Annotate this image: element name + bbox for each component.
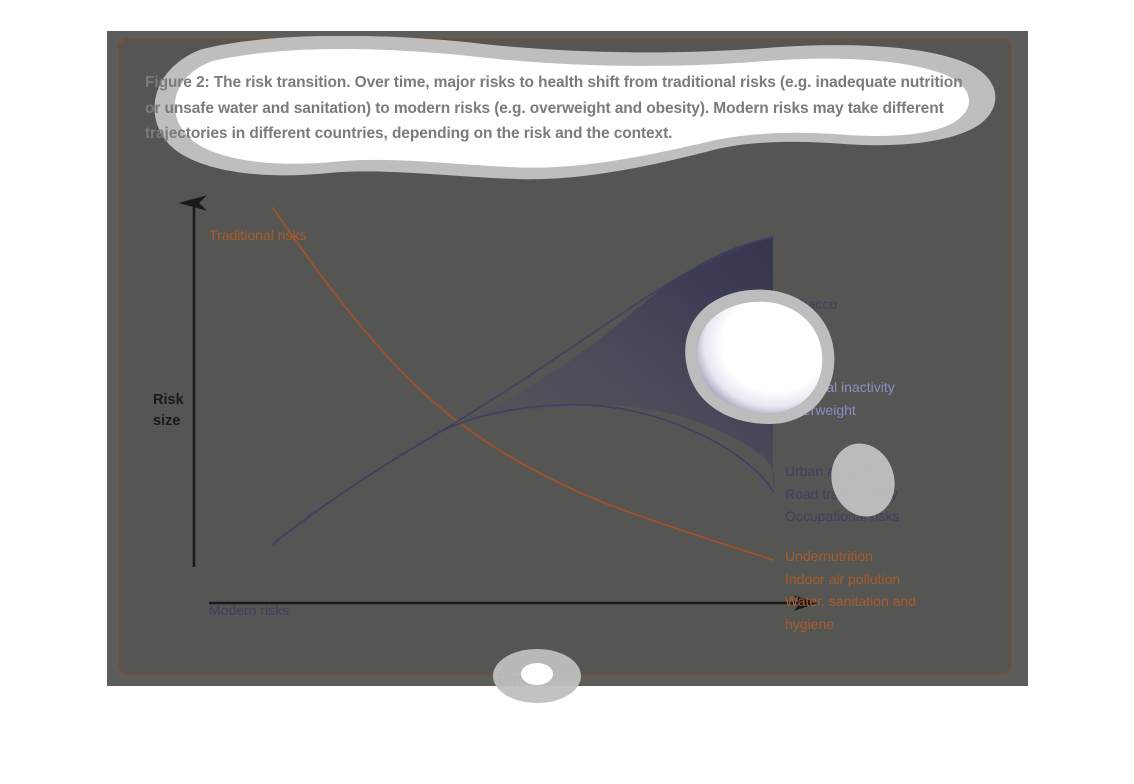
legend-item-road-traffic-safety: Road traffic safety [785, 483, 899, 506]
legend-group-urban-risks: Urban air quality Road traffic safety Oc… [785, 460, 899, 528]
y-axis-title-line1: Risk [153, 392, 184, 408]
legend-item-water-sanitation: Water, sanitation and [785, 590, 930, 613]
traditional-risks-label: Traditional risks [209, 224, 307, 247]
legend-group-modern-risks: Physical inactivity Overweight [785, 376, 895, 421]
legend-group-traditional-risks: Undernutrition Indoor air pollution Wate… [785, 545, 930, 635]
legend-item-overweight: Overweight [785, 399, 895, 422]
legend-group-tobacco: Tobacco [785, 293, 837, 316]
figure-caption: Figure 2: The risk transition. Over time… [145, 70, 970, 147]
legend-item-tobacco: Tobacco [785, 293, 837, 316]
modern-risks-label: Modern risks [209, 599, 289, 622]
x-axis-title: Time [496, 670, 530, 691]
legend-item-urban-air-quality: Urban air quality [785, 460, 899, 483]
y-axis-title: Risk size [153, 390, 213, 432]
modern-risks-lower-curve [273, 405, 773, 544]
y-axis-title-line2: size [153, 413, 180, 429]
modern-risk-shaded-area [465, 238, 774, 490]
legend-item-hygiene: hygiene [785, 613, 930, 636]
legend-item-physical-inactivity: Physical inactivity [785, 376, 895, 399]
figure-screenshot: Risk size Time Traditional risks Modern … [0, 0, 1134, 784]
legend-item-occupational-risks: Occupational risks [785, 505, 899, 528]
legend-item-indoor-air-pollution: Indoor air pollution [785, 568, 930, 591]
legend-item-undernutrition: Undernutrition [785, 545, 930, 568]
